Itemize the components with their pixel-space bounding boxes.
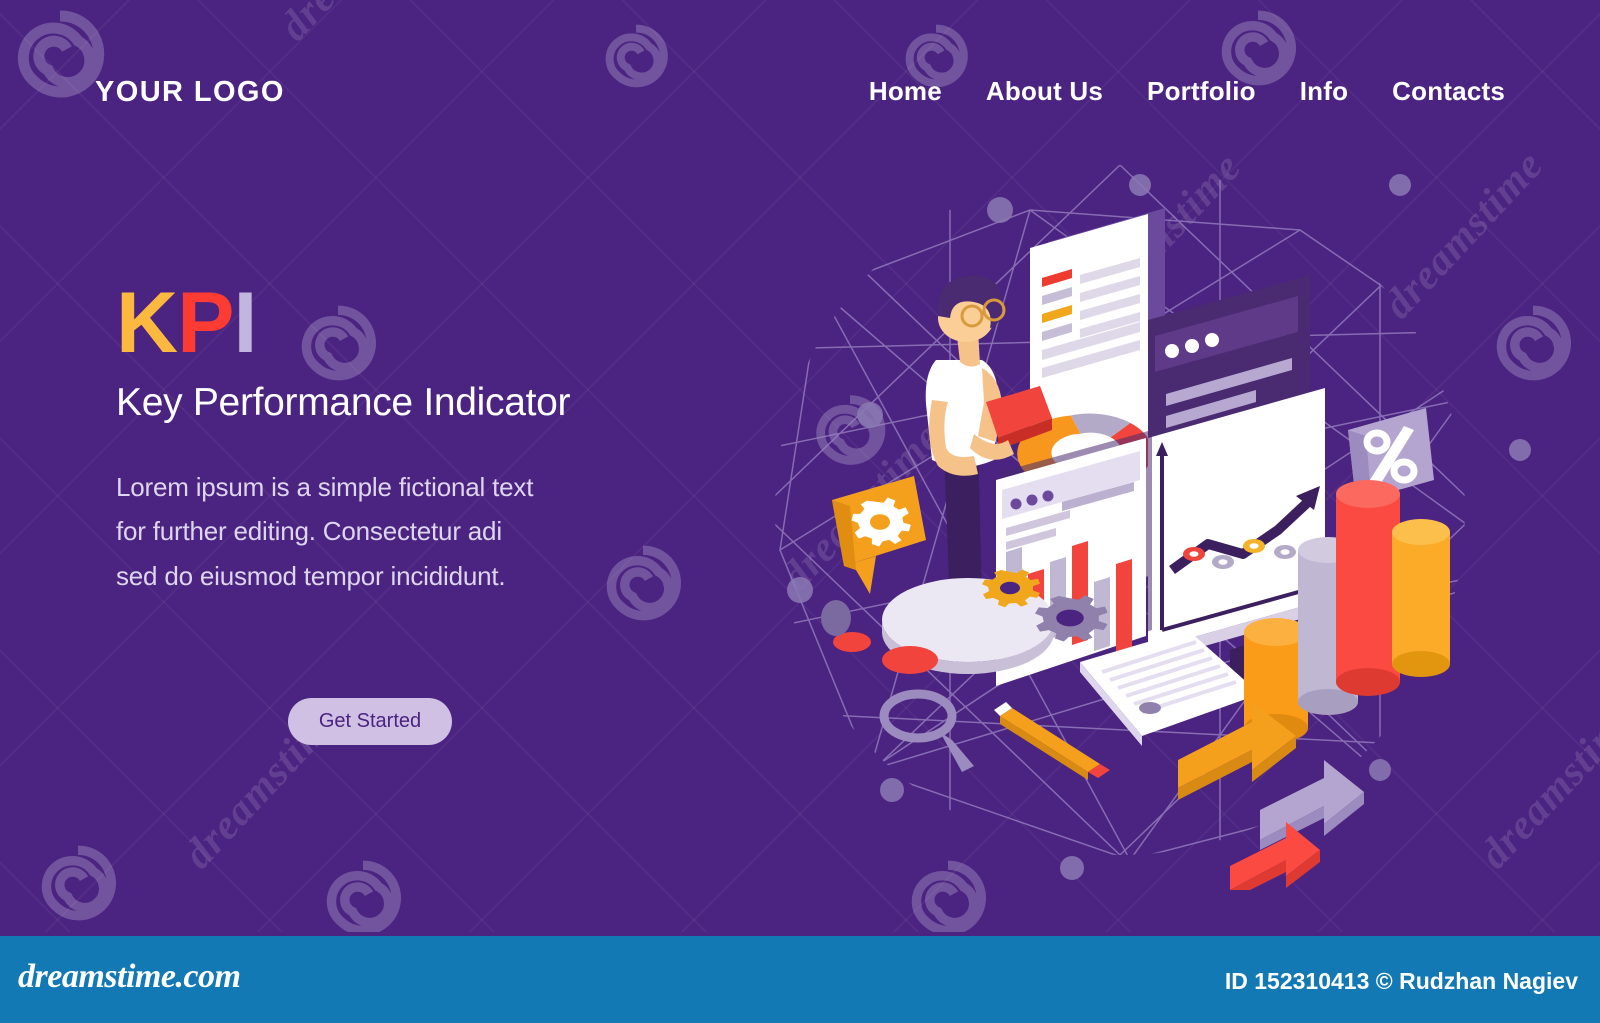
nav-item-about-us[interactable]: About Us <box>986 76 1103 107</box>
pencil-icon <box>994 702 1110 780</box>
footer-divider <box>0 932 1600 936</box>
site-logo[interactable]: YOUR LOGO <box>95 76 285 109</box>
hero-description-line-1: Lorem ipsum is a simple fictional text <box>116 465 736 510</box>
spiral-watermark <box>35 840 121 926</box>
kpi-letter-p: P <box>177 275 233 371</box>
arrow-marker-lavender <box>1260 760 1364 850</box>
magnifier-icon <box>884 694 974 772</box>
nav-item-info[interactable]: Info <box>1300 76 1348 107</box>
nav-item-portfolio[interactable]: Portfolio <box>1147 76 1256 107</box>
hero-description-line-3: sed do eiusmod tempor incididunt. <box>116 554 736 599</box>
cylinder-bar-3 <box>1336 480 1400 696</box>
get-started-button[interactable]: Get Started <box>288 698 452 745</box>
kpi-letter-i: I <box>233 275 256 371</box>
site-header: YOUR LOGO Home About Us Portfolio Info C… <box>0 0 1600 180</box>
kpi-illustration <box>700 150 1550 890</box>
spiral-watermark <box>320 855 406 941</box>
cylinder-bar-4 <box>1392 519 1450 677</box>
page-title: KPI <box>116 283 736 365</box>
image-credit: ID 152310413 © Rudzhan Nagiev <box>1225 968 1578 995</box>
page-subtitle: Key Performance Indicator <box>116 381 736 425</box>
dreamstime-logo-text: dreamstime.com <box>18 958 240 995</box>
nav-item-home[interactable]: Home <box>869 76 942 107</box>
hero-description-line-2: for further editing. Consectetur adi <box>116 509 736 554</box>
main-navigation: Home About Us Portfolio Info Contacts <box>869 76 1505 107</box>
hero-description: Lorem ipsum is a simple fictional text f… <box>116 465 736 599</box>
landing-page: dreamstime dreamstime dreamstime dreamst… <box>0 0 1600 1023</box>
nav-item-contacts[interactable]: Contacts <box>1392 76 1505 107</box>
site-footer: dreamstime.com ID 152310413 © Rudzhan Na… <box>0 936 1600 1023</box>
illustration-canvas <box>700 150 1550 890</box>
ellipse-shadow <box>821 600 851 636</box>
kpi-letter-k: K <box>116 275 177 371</box>
gear-speech-bubble <box>832 476 926 594</box>
hero-section: KPI Key Performance Indicator Lorem ipsu… <box>116 283 736 599</box>
dreamstime-logo[interactable]: dreamstime.com <box>18 958 240 996</box>
ellipse-shadow <box>882 646 938 674</box>
